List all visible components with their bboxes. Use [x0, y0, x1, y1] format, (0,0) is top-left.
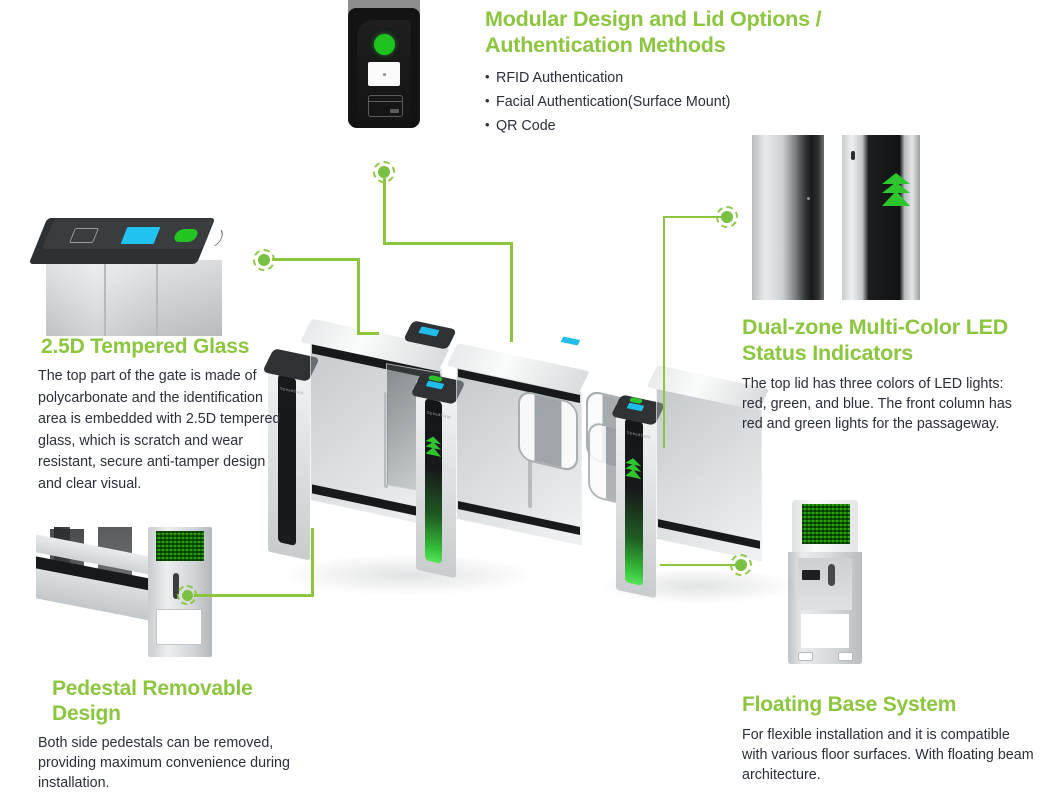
base-floor-opening	[801, 614, 849, 648]
callout-modular-heading-line2: Authentication Methods	[485, 33, 725, 57]
pedestal-opening	[156, 609, 202, 645]
lid-seam	[104, 262, 106, 336]
leader-line-modular-vertical	[383, 178, 386, 244]
infographic-canvas: SpeedGate SpeedGate	[0, 0, 1050, 812]
callout-led-indicators: Dual-zone Multi-Color LED Status Indicat…	[742, 314, 1028, 434]
callout-led-heading-line2: Status Indicators	[742, 341, 913, 365]
leader-line-pedestal-horizontal	[194, 594, 314, 597]
gate-b-chevron-icon	[425, 435, 442, 457]
leader-line-glass-horizontal	[272, 258, 360, 261]
green-mesh-panel	[802, 504, 850, 544]
gate-c-chevron-icon	[625, 457, 643, 480]
led-column-photo-left	[752, 135, 824, 300]
leader-line-led-vertical	[663, 216, 665, 448]
led-column-photos	[752, 135, 922, 303]
gate-c-led-column	[625, 418, 643, 586]
lid-base-front	[46, 260, 222, 336]
callout-pedestal-heading: Pedestal Removable Design	[52, 676, 306, 726]
callout-floating-base: Floating Base System For flexible instal…	[742, 692, 1034, 785]
base-inner-wall	[798, 558, 852, 610]
qr-reader-screen	[121, 227, 161, 244]
callout-modular-heading-line1: Modular Design and Lid Options /	[485, 7, 821, 31]
callout-pedestal-heading-line2: Design	[52, 702, 121, 725]
leader-line-floating-horizontal	[660, 564, 736, 566]
callout-led-heading-line1: Dual-zone Multi-Color LED	[742, 315, 1008, 339]
column-sensor-hole	[851, 151, 855, 160]
reader-module-image	[348, 0, 420, 134]
green-mesh-panel	[156, 531, 204, 561]
callout-glass-heading: 2.5D Tempered Glass	[41, 334, 286, 359]
leader-line-led-horizontal	[663, 216, 723, 218]
swing-barrier-wing-left	[518, 389, 578, 473]
status-led-icon	[374, 34, 395, 55]
bullet-item: QR Code	[485, 114, 905, 138]
marker-led[interactable]	[716, 206, 738, 228]
green-chevron-icon	[882, 173, 914, 207]
leader-line-modular-horizontal	[383, 242, 513, 245]
qr-screen-icon	[368, 62, 400, 86]
base-foot-right	[838, 652, 853, 661]
callout-pedestal-removable: Pedestal Removable Design Both side pede…	[38, 676, 306, 793]
callout-glass-body: The top part of the gate is made of poly…	[38, 366, 286, 495]
callout-modular-bullet-list: RFID Authentication Facial Authenticatio…	[485, 66, 905, 138]
gate-b-led-column	[425, 398, 442, 564]
marker-glass[interactable]	[253, 249, 275, 271]
marker-pedestal[interactable]	[177, 585, 197, 605]
marker-dot-icon	[182, 590, 193, 601]
leader-line-pedestal-vertical	[311, 528, 314, 596]
callout-floating-body: For flexible installation and it is comp…	[742, 725, 1034, 785]
marker-modular[interactable]	[373, 161, 395, 183]
bullet-item: Facial Authentication(Surface Mount)	[485, 90, 905, 114]
floating-base-photo	[788, 500, 868, 670]
leader-line-glass-hook	[357, 332, 379, 335]
base-component-block	[802, 570, 820, 580]
speed-gate-illustration: SpeedGate SpeedGate	[268, 318, 768, 598]
card-reader-icon	[368, 95, 403, 117]
base-rod	[828, 564, 835, 586]
callout-led-body: The top lid has three colors of LED ligh…	[742, 374, 1028, 434]
led-column-photo-right	[842, 135, 920, 300]
callout-modular-heading: Modular Design and Lid Options / Authent…	[485, 6, 905, 58]
lid-seam	[156, 262, 158, 336]
marker-floating[interactable]	[730, 554, 752, 576]
callout-floating-heading: Floating Base System	[742, 692, 1034, 717]
callout-pedestal-heading-line1: Pedestal Removable	[52, 677, 253, 700]
leader-line-modular-drop	[510, 242, 513, 342]
bullet-item: RFID Authentication	[485, 66, 905, 90]
callout-led-heading: Dual-zone Multi-Color LED Status Indicat…	[742, 314, 1028, 366]
base-foot-left	[798, 652, 813, 661]
gate-b-qr-reader-rear	[561, 336, 581, 345]
callout-tempered-glass: 2.5D Tempered Glass The top part of the …	[38, 334, 286, 495]
column-notch	[807, 197, 810, 200]
callout-modular-design: Modular Design and Lid Options / Authent…	[485, 6, 905, 138]
glass-lid-photo	[38, 218, 224, 322]
callout-pedestal-body: Both side pedestals can be removed, prov…	[38, 733, 306, 793]
leader-line-glass-vertical	[357, 258, 360, 334]
